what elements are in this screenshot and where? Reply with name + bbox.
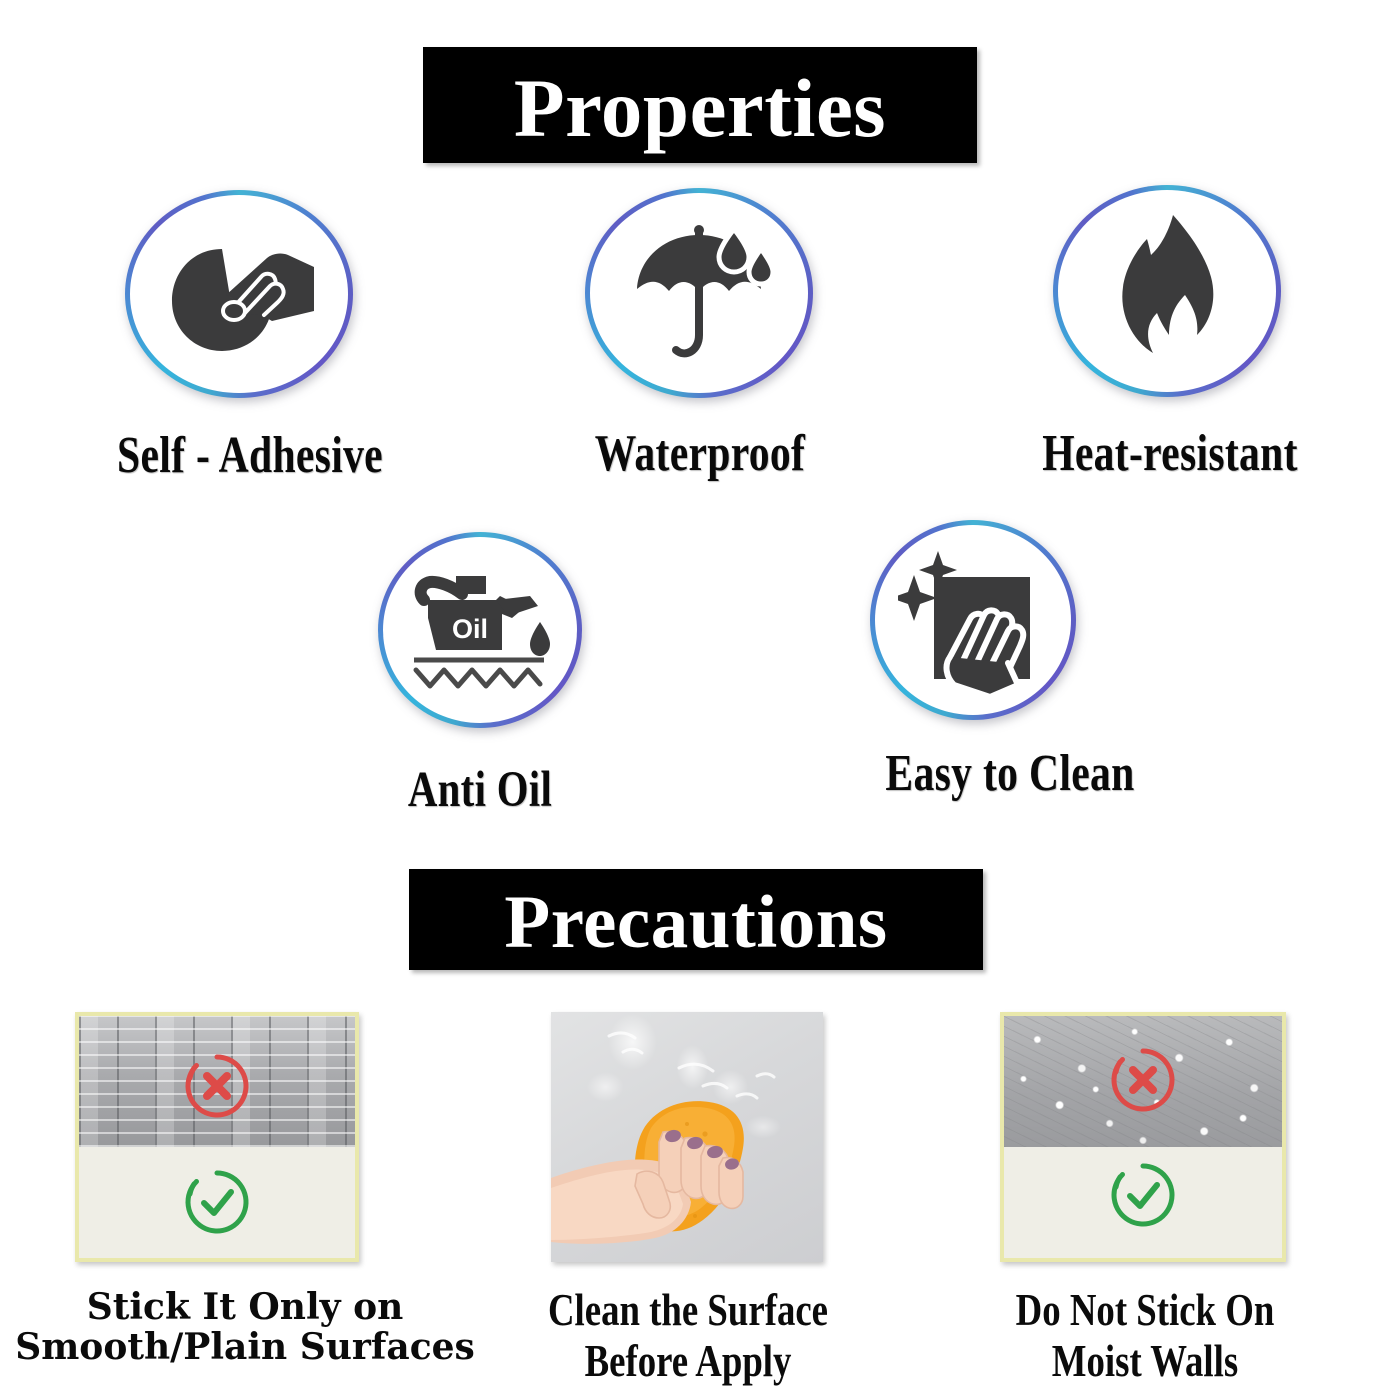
hand-wiping-cloth-sparkle-icon [898, 545, 1048, 695]
properties-banner-row: Properties [0, 47, 1400, 163]
oil-can-drip-icon: Oil [404, 566, 556, 694]
green-check-icon [183, 1168, 251, 1241]
property-badge-easy-to-clean [870, 520, 1076, 720]
precaution-image-brick-vs-smooth [75, 1012, 359, 1262]
property-label-waterproof: Waterproof [544, 428, 856, 480]
precaution-image-hand-sponge [551, 1012, 823, 1262]
red-cross-icon [1109, 1046, 1177, 1119]
precaution-caption-clean-surface: Clean the Surface Before Apply [508, 1285, 868, 1386]
property-label-self-adhesive: Self - Adhesive [82, 430, 418, 482]
precaution-card-smooth-surfaces [75, 1012, 359, 1262]
precaution-caption-moist-walls: Do Not Stick On Moist Walls [961, 1285, 1329, 1386]
flame-icon [1107, 211, 1227, 371]
precautions-section-title: Precautions [409, 869, 983, 970]
precautions-banner-row: Precautions [0, 869, 1400, 970]
property-badge-self-adhesive [125, 190, 353, 398]
property-badge-waterproof [585, 188, 813, 398]
precaution-image-moist-vs-dry [1000, 1012, 1286, 1262]
umbrella-raindrops-icon [621, 217, 777, 369]
properties-section-title: Properties [423, 47, 977, 163]
precaution-caption-smooth-surfaces: Stick It Only on Smooth/Plain Surfaces [5, 1288, 485, 1367]
property-badge-anti-oil: Oil [378, 532, 582, 728]
red-cross-icon [183, 1052, 251, 1125]
property-badge-heat-resistant [1053, 185, 1281, 397]
precaution-card-moist-walls [1000, 1012, 1286, 1262]
green-check-icon [1109, 1161, 1177, 1234]
precaution-card-clean-surface [551, 1012, 823, 1262]
hand-peeling-sticker-icon [164, 229, 314, 359]
property-label-anti-oil: Anti Oil [336, 765, 624, 816]
oil-can-text: Oil [452, 614, 488, 644]
hand-with-sponge-photo [551, 1012, 823, 1262]
property-label-easy-to-clean: Easy to Clean [834, 748, 1186, 800]
property-label-heat-resistant: Heat-resistant [1002, 428, 1338, 480]
